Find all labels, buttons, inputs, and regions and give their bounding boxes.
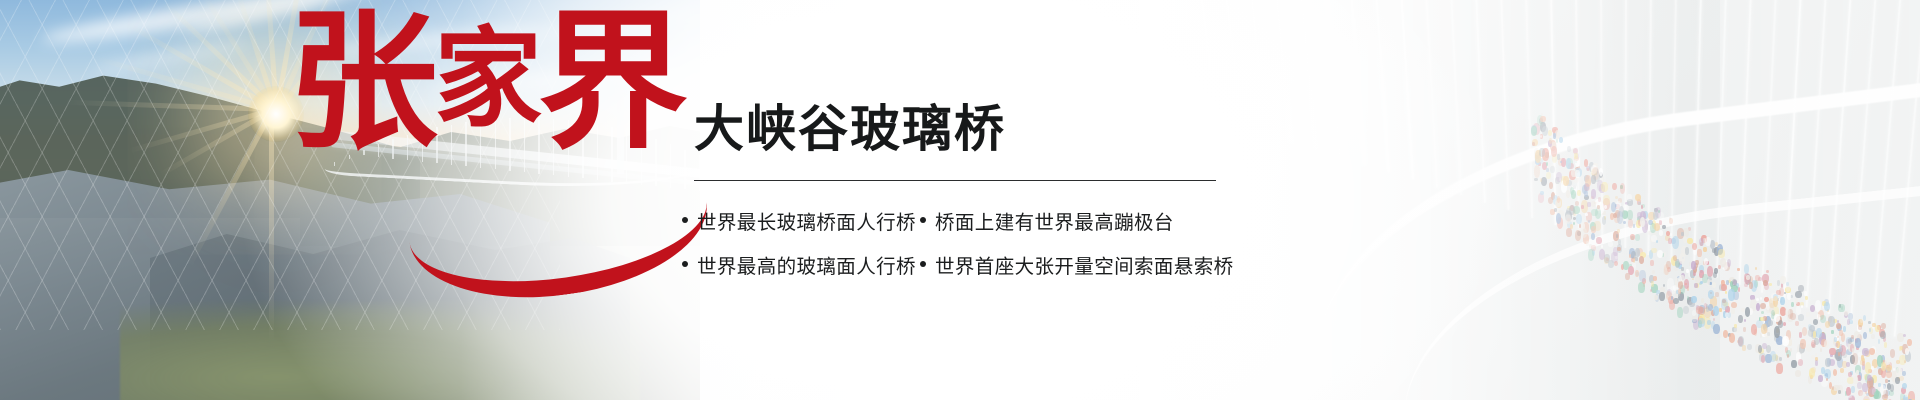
brand-char-2: 家 [434, 17, 538, 142]
feature-item: 世界最高的玻璃面人行桥 [682, 250, 920, 279]
brand-char-3: 界 [538, 0, 684, 170]
bullet-dot [920, 261, 926, 267]
bullet-dot [920, 217, 926, 223]
brand-title: 张家界 [288, 8, 684, 158]
banner-content: 张家界 大峡谷玻璃桥 世界最长玻璃桥面人行桥 桥面上建有世界最高蹦极台 世界最高… [0, 0, 1920, 400]
bullet-dot [682, 217, 688, 223]
subtitle-divider [694, 180, 1216, 181]
zhangjiajie-glass-bridge-banner: 张家界 大峡谷玻璃桥 世界最长玻璃桥面人行桥 桥面上建有世界最高蹦极台 世界最高… [0, 0, 1920, 400]
subtitle: 大峡谷玻璃桥 [694, 104, 1006, 154]
bullet-dot [682, 261, 688, 267]
feature-label: 世界最高的玻璃面人行桥 [697, 250, 916, 279]
feature-item: 世界最长玻璃桥面人行桥 [682, 206, 920, 235]
feature-label: 世界最长玻璃桥面人行桥 [697, 206, 916, 235]
feature-list: 世界最长玻璃桥面人行桥 桥面上建有世界最高蹦极台 世界最高的玻璃面人行桥 世界首… [682, 198, 1242, 286]
feature-label: 桥面上建有世界最高蹦极台 [935, 206, 1174, 235]
feature-label: 世界首座大张开量空间索面悬索桥 [935, 250, 1234, 279]
feature-item: 世界首座大张开量空间索面悬索桥 [920, 250, 1242, 279]
feature-item: 桥面上建有世界最高蹦极台 [920, 206, 1242, 235]
brand-char-1: 张 [288, 0, 434, 170]
